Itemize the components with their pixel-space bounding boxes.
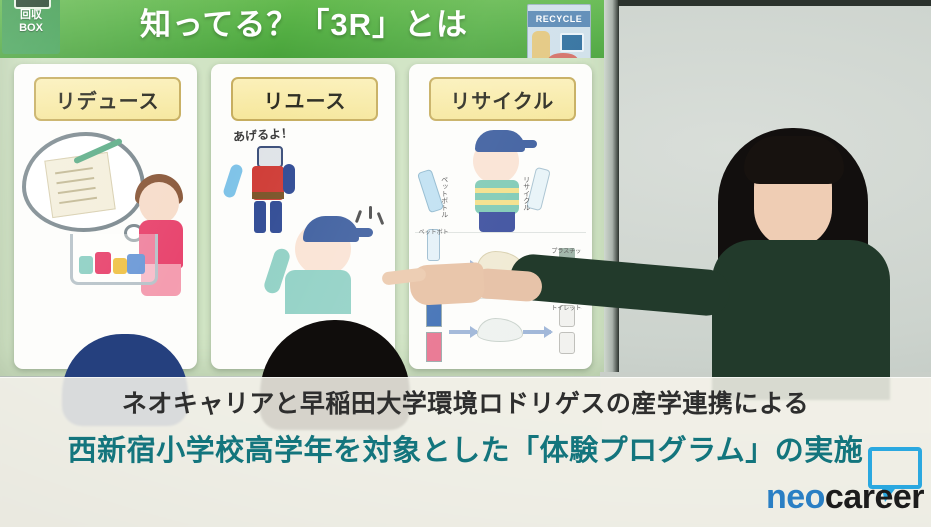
card-recycle-heading: リサイクル xyxy=(429,77,576,121)
toilet-paper-icon xyxy=(559,332,575,354)
collection-box-label-line2: BOX xyxy=(19,22,43,34)
three-r-cards: リデュース xyxy=(14,64,592,369)
slide-title-bar: 知ってる？「3R」とは 回収 BOX RECYCLE xyxy=(0,0,604,58)
excitement-spark xyxy=(369,206,372,219)
shopping-basket-icon xyxy=(70,234,158,285)
screenshot-stage: 知ってる？「3R」とは 回収 BOX RECYCLE xyxy=(0,0,931,527)
card-recycle: リサイクル ペットボトル リサイクル xyxy=(409,64,592,369)
collection-box-label-line1: 回収 xyxy=(20,9,42,21)
thought-bubble-icon xyxy=(22,132,145,232)
recycle-kid-note-left: ペットボトル xyxy=(439,176,449,218)
flow-source-label: ペットボトル xyxy=(419,227,450,236)
presenter-shirt xyxy=(712,240,890,400)
caption-line-1: ネオキャリアと早稲田大学環境ロドリゲスの産学連携による xyxy=(0,387,931,421)
card-reuse-heading: リユース xyxy=(231,77,378,121)
presenter-fringe xyxy=(744,136,844,184)
card-recycle-illustration: ペットボトル リサイクル xyxy=(409,124,592,369)
logo-word-neo: neo xyxy=(766,478,825,516)
paper-carton-icon xyxy=(426,332,442,362)
card-reuse-caption: あげるよ！ xyxy=(233,124,294,145)
flow-target-cell: トイレットペーパー xyxy=(551,305,582,359)
neocareer-logo-text: neocareer xyxy=(752,479,924,515)
card-reuse-heading-label: リユース xyxy=(263,85,346,114)
collection-box-label: 回収 BOX xyxy=(2,9,60,35)
recycle-poster-label: RECYCLE xyxy=(528,11,590,27)
robot-toy-icon xyxy=(245,146,291,238)
screen-frame-edge xyxy=(604,0,619,376)
shopper-head xyxy=(139,182,179,224)
excitement-spark xyxy=(377,212,385,225)
flow-target-label: プラスチック製品 xyxy=(551,246,582,255)
card-reuse: リユース あげるよ！ xyxy=(211,64,394,369)
logo-word-career: career xyxy=(825,478,924,516)
collection-box-icon: 回収 BOX xyxy=(2,0,60,54)
recycle-poster-icon: RECYCLE xyxy=(527,4,591,58)
boy-body xyxy=(285,270,351,314)
card-reduce-heading-label: リデュース xyxy=(56,85,160,114)
flow-middle-cell xyxy=(477,318,523,347)
boy-cap xyxy=(303,216,359,242)
card-reduce-illustration xyxy=(14,124,197,369)
neocareer-logo: neocareer xyxy=(752,447,924,517)
presenter-figure xyxy=(640,128,931,388)
presentation-screen: 知ってる？「3R」とは 回収 BOX RECYCLE xyxy=(0,0,618,376)
recycle-poster-person xyxy=(532,31,550,58)
recycle-poster-bike xyxy=(548,53,578,58)
flow-arrow-icon xyxy=(449,330,477,334)
recycle-poster-monitor xyxy=(560,33,584,52)
recycle-flow-row: 紙パック トイレットペーパー xyxy=(415,299,586,365)
excitement-spark xyxy=(355,210,362,223)
paper-pulp-icon xyxy=(477,318,523,342)
card-reduce: リデュース xyxy=(14,64,197,369)
wall-top-shadow xyxy=(618,0,931,6)
card-reduce-heading: リデュース xyxy=(34,77,181,121)
flow-source-cell: 紙パック xyxy=(419,297,450,367)
collection-box-slot xyxy=(14,0,51,9)
slide-title: 知ってる？「3R」とは xyxy=(128,2,480,48)
recycle-kid-figure xyxy=(461,128,531,228)
card-recycle-heading-label: リサイクル xyxy=(450,85,554,114)
flow-arrow-icon xyxy=(523,330,551,334)
